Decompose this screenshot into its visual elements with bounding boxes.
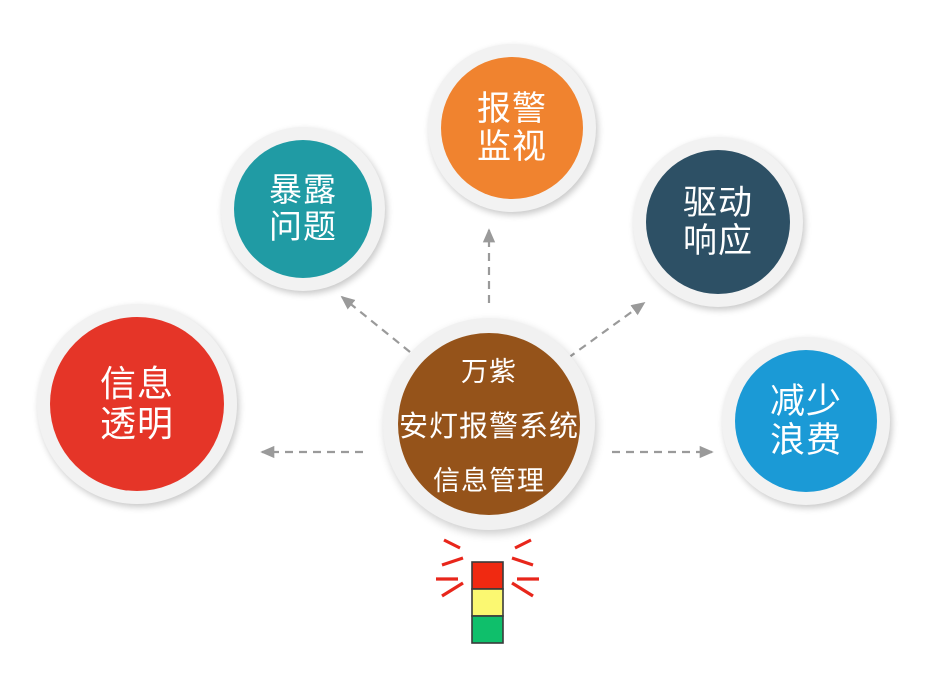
andon-lamp-body <box>472 562 503 643</box>
diagram-canvas: 报警监视暴露问题驱动响应信息透明减少浪费 万紫 安灯报警系统 信息管理 <box>0 0 939 680</box>
node-alarm-monitoring-line-1: 报警 <box>477 90 547 128</box>
node-expose-problems[interactable]: 暴露问题 <box>221 127 385 291</box>
node-reduce-waste-disc: 减少浪费 <box>735 350 877 492</box>
node-drive-response-disc: 驱动响应 <box>646 150 790 294</box>
node-alarm-monitoring-disc: 报警监视 <box>441 57 583 199</box>
center-hub-line-3: 信息管理 <box>433 459 545 498</box>
andon-lamp-yellow <box>472 589 503 616</box>
center-hub-line-2: 安灯报警系统 <box>399 403 579 445</box>
node-expose-problems-disc: 暴露问题 <box>234 140 372 278</box>
andon-lamp-green <box>472 616 503 643</box>
node-alarm-monitoring[interactable]: 报警监视 <box>428 44 596 212</box>
node-drive-response-line-1: 驱动 <box>683 184 753 222</box>
center-hub[interactable]: 万紫 安灯报警系统 信息管理 <box>383 318 595 530</box>
center-hub-disc: 万紫 安灯报警系统 信息管理 <box>398 333 580 515</box>
node-information-transparency-line-2: 透明 <box>100 404 174 444</box>
node-reduce-waste[interactable]: 减少浪费 <box>722 337 890 505</box>
andon-lamp-red <box>472 562 503 589</box>
node-information-transparency-disc: 信息透明 <box>50 317 224 491</box>
node-drive-response-line-2: 响应 <box>683 222 753 260</box>
andon-lamp-flash-4 <box>442 583 463 596</box>
arrow-to-drive-response <box>568 303 644 358</box>
andon-lamp-flash-6 <box>512 558 533 565</box>
node-expose-problems-line-2: 问题 <box>269 209 337 246</box>
node-information-transparency-line-1: 信息 <box>100 364 174 404</box>
node-reduce-waste-line-2: 浪费 <box>770 421 842 460</box>
arrow-to-expose-problems <box>342 297 410 352</box>
node-drive-response[interactable]: 驱动响应 <box>633 137 803 307</box>
andon-lamp-flash-2 <box>442 558 463 565</box>
center-hub-line-1: 万紫 <box>461 350 517 389</box>
node-reduce-waste-line-1: 减少 <box>770 382 842 421</box>
node-alarm-monitoring-line-2: 监视 <box>477 128 547 166</box>
andon-lamp-flash-1 <box>444 540 460 548</box>
node-expose-problems-line-1: 暴露 <box>269 172 337 209</box>
andon-lamp-flash-8 <box>512 583 533 596</box>
node-information-transparency[interactable]: 信息透明 <box>37 304 237 504</box>
andon-lamp-flash-5 <box>515 540 531 548</box>
andon-lamp-icon <box>430 538 548 648</box>
